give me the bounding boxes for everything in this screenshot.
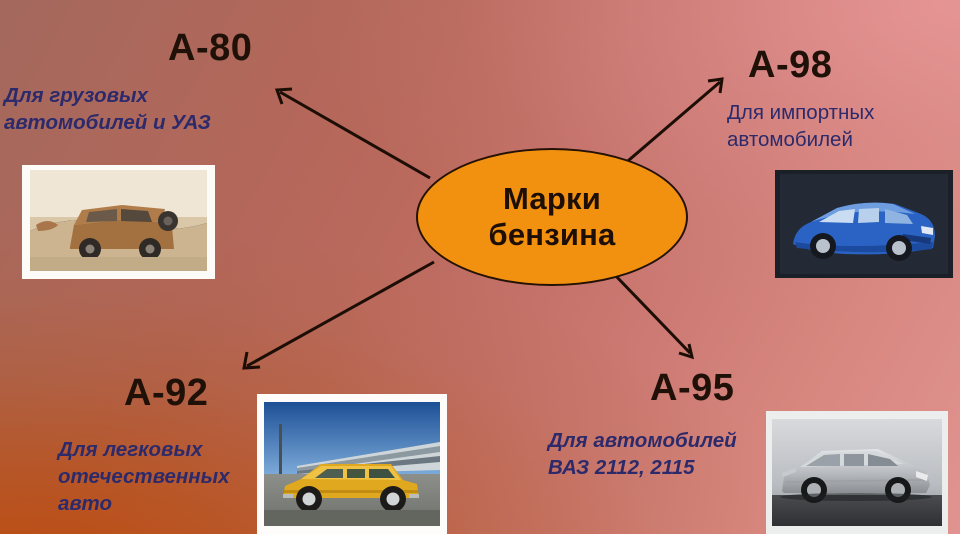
center-node-marki-benzina[interactable]: Марки бензина — [416, 148, 688, 286]
branch-description-a92: Для легковых отечественных авто — [58, 436, 230, 517]
branch-title-a95: А-95 — [650, 367, 734, 410]
branch-description-a80: Для грузовых автомобилей и УАЗ — [4, 82, 211, 136]
center-node-label-line1: Марки — [503, 181, 601, 217]
branch-title-a98: А-98 — [748, 44, 832, 87]
branch-title-a92: А-92 — [124, 372, 208, 415]
arrow-center-to-a80 — [277, 89, 430, 178]
arrow-center-to-a98 — [622, 79, 722, 166]
lada-2102-wagon-photo — [257, 394, 447, 534]
vw-touran-photo — [775, 170, 953, 278]
center-node-label-line2: бензина — [489, 217, 616, 253]
branch-title-a80: А-80 — [168, 27, 252, 70]
slide-canvas: Марки бензина А-80 Для грузовых автомоби… — [0, 0, 960, 534]
branch-description-a95: Для автомобилей ВАЗ 2112, 2115 — [548, 427, 737, 481]
arrow-center-to-a92 — [244, 262, 434, 368]
arrow-center-to-a95 — [614, 274, 692, 357]
lada-2112-photo — [766, 411, 948, 534]
uaz-offroad-photo — [22, 165, 215, 279]
branch-description-a98: Для импортных автомобилей — [727, 99, 874, 153]
